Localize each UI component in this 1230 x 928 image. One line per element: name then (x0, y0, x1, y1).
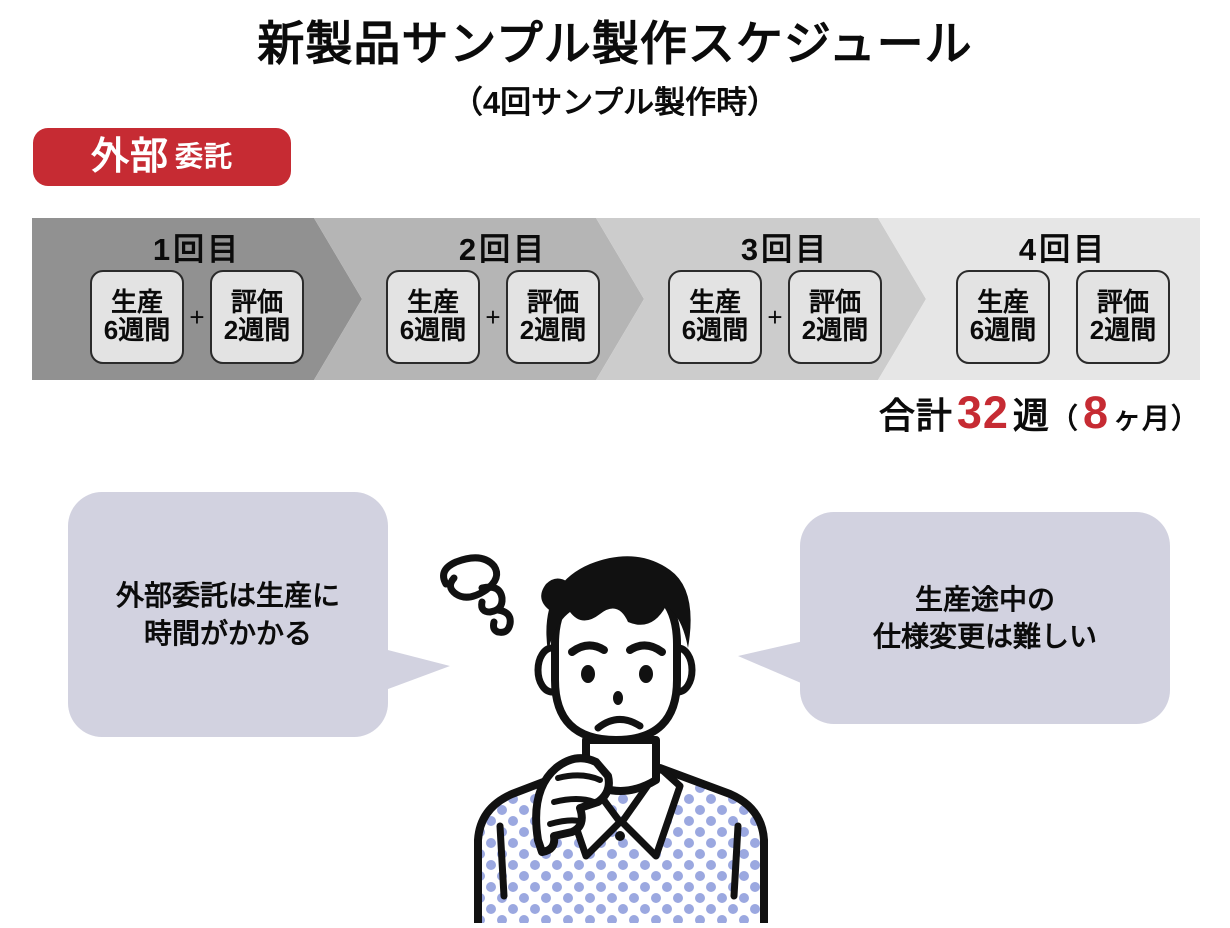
task-name: 評価 (809, 288, 861, 316)
title-block: 新製品サンプル製作スケジュール （4回サンプル製作時） (0, 18, 1230, 122)
flow-stage-boxes: 生産 6週間 評価 2週間 (878, 270, 1224, 364)
flow-stage-3: 3回目 生産 6週間 + 評価 2週間 (596, 218, 926, 380)
flow-stage-1: 1回目 生産 6週間 + 評価 2週間 (32, 218, 362, 380)
eye-left (581, 665, 595, 683)
task-name: 評価 (527, 288, 579, 316)
total-months-value: 8 (1083, 387, 1109, 438)
eye-right (639, 665, 653, 683)
speech-bubble-left-text: 外部委託は生産に 時間がかかる (116, 577, 340, 651)
total-prefix: 合計 (879, 395, 953, 436)
page-title: 新製品サンプル製作スケジュール (0, 18, 1230, 71)
task-box-evaluation: 評価 2週間 (788, 270, 882, 364)
task-name: 評価 (1097, 288, 1149, 316)
task-name: 評価 (231, 288, 283, 316)
task-duration: 2週間 (224, 316, 290, 345)
task-name: 生産 (407, 288, 459, 316)
total-duration: 合計32週（8ヶ月） (879, 387, 1200, 439)
outsourcing-badge: 外部 委託 (33, 128, 291, 186)
thought-squiggle-icon (444, 558, 511, 633)
task-box-production: 生産 6週間 (956, 270, 1050, 364)
flow-stage-4: 4回目 生産 6週間 評価 2週間 (878, 218, 1200, 380)
task-duration: 2週間 (520, 316, 586, 345)
task-box-production: 生産 6週間 (386, 270, 480, 364)
badge-main-label: 外部 (91, 138, 169, 176)
task-duration: 6週間 (104, 316, 170, 345)
total-months-unit: ヶ月 (1113, 403, 1171, 434)
speech-bubble-left: 外部委託は生産に 時間がかかる (68, 492, 388, 737)
task-duration: 6週間 (400, 316, 466, 345)
task-box-production: 生産 6週間 (668, 270, 762, 364)
task-box-production: 生産 6週間 (90, 270, 184, 364)
total-weeks-value: 32 (957, 387, 1009, 438)
worried-person-illustration (430, 540, 810, 923)
plus-separator: + (762, 302, 788, 333)
plus-separator: + (184, 302, 210, 333)
nose (613, 691, 623, 705)
speech-bubble-right: 生産途中の 仕様変更は難しい (800, 512, 1170, 724)
plus-separator: + (480, 302, 506, 333)
task-box-evaluation: 評価 2週間 (506, 270, 600, 364)
flow-stage-label: 1回目 (32, 224, 362, 269)
task-duration: 2週間 (802, 316, 868, 345)
task-duration: 6週間 (682, 316, 748, 345)
total-open-paren: （ (1050, 403, 1079, 434)
task-name: 生産 (977, 288, 1029, 316)
task-name: 生産 (689, 288, 741, 316)
task-name: 生産 (111, 288, 163, 316)
page-subtitle: （4回サンプル製作時） (0, 77, 1230, 122)
task-duration: 2週間 (1090, 316, 1156, 345)
task-duration: 6週間 (970, 316, 1036, 345)
task-box-evaluation: 評価 2週間 (210, 270, 304, 364)
speech-bubble-right-text: 生産途中の 仕様変更は難しい (873, 581, 1097, 655)
total-close-paren: ） (1171, 403, 1200, 434)
badge-sub-label: 委託 (175, 143, 233, 171)
total-weeks-unit: 週 (1013, 395, 1050, 436)
task-box-evaluation: 評価 2週間 (1076, 270, 1170, 364)
flow-stage-label: 4回目 (878, 224, 1224, 269)
flow-stage-2: 2回目 生産 6週間 + 評価 2週間 (314, 218, 644, 380)
schedule-flow: 1回目 生産 6週間 + 評価 2週間 2回目 生産 6週間 + 評価 2週間 (32, 218, 1200, 380)
